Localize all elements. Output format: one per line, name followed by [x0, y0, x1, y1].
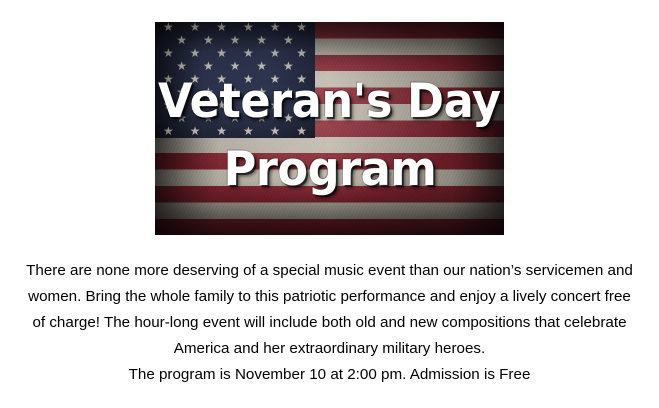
flag-vignette-overlay: [155, 22, 504, 235]
veterans-day-banner: ★★★★★★★★★★★★★★★★★★★★★★★★★★★★★★★★★★★★★★★★…: [155, 22, 504, 235]
description-paragraph: There are none more deserving of a speci…: [20, 258, 639, 362]
event-description: There are none more deserving of a speci…: [20, 258, 639, 388]
event-details-line: The program is November 10 at 2:00 pm. A…: [20, 362, 639, 388]
american-flag-image: ★★★★★★★★★★★★★★★★★★★★★★★★★★★★★★★★★★★★★★★★…: [155, 22, 504, 235]
document-page: ★★★★★★★★★★★★★★★★★★★★★★★★★★★★★★★★★★★★★★★★…: [0, 0, 659, 408]
